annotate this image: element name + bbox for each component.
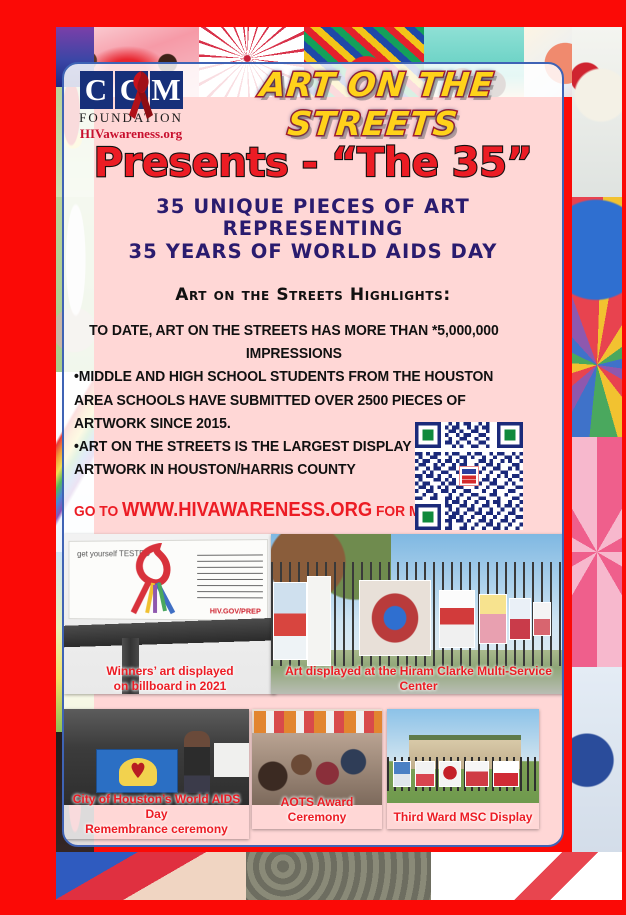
cta-url[interactable]: WWW.HIVAWARENESS.ORG [122,499,372,521]
ccm-foundation-logo: C C M FOUNDATION HIVawareness.org [72,71,190,137]
qr-center-logo [460,467,479,486]
third-ward-artwork-5 [493,761,519,787]
collage-tile-stone-artwork [246,852,431,900]
fence-artwork-5 [509,598,531,640]
cta-prefix: GO TO [74,503,122,520]
third-ward-artwork-4 [465,761,489,787]
photo-hiram-clarke-fence[interactable]: Art displayed at the Hiram Clarke Multi-… [271,534,564,694]
photo-remembrance-caption: City of Houston’s World AIDS Day Remembr… [64,792,249,837]
fence-artwork-2 [359,580,431,656]
subtitle-line-1: 35 UNIQUE PIECES OF ART REPRESENTING [64,196,562,241]
ccm-logo-letter-2: C [115,71,148,109]
third-ward-artwork-3 [439,761,461,787]
third-ward-artwork-1 [393,761,411,787]
poster-root: C C M FOUNDATION HIVawareness.org ART ON… [0,0,626,915]
ccm-logo-letter-3: M [150,71,183,109]
remembrance-love-sign [214,743,249,777]
photo-fence-caption: Art displayed at the Hiram Clarke Multi-… [271,664,564,694]
photo-billboard-caption: Winners’ art displayed on billboard in 2… [64,664,276,694]
billboard-tagline: HIV.GOV/PREP [210,608,261,615]
fence-artwork-1 [273,582,307,660]
collage-tile-raise-your-voice-artwork [56,852,246,900]
collage-tile-red-ribbon-hands-artwork [431,852,622,900]
collage-tile-flower-artwork [572,437,622,667]
presents-title: Presents - “The 35” [64,140,562,186]
photo-fence-caption-line1: Art displayed at the Hiram Clarke Multi-… [271,664,564,694]
photo-award-ceremony[interactable]: AOTS Award Ceremony [252,709,382,829]
photo-award-caption-line1: AOTS Award Ceremony [252,795,382,825]
billboard-bullet-text [197,554,263,599]
billboard-panel: get yourself TESTED HIV.GOV/PREP [69,539,269,621]
photo-third-ward[interactable]: Third Ward MSC Display [387,709,539,829]
third-ward-artwork-2 [415,761,435,787]
photo-third-ward-caption: Third Ward MSC Display [387,810,539,825]
collage-tile-blue-bear-artwork [572,197,622,437]
fence-sponsor-banner [307,576,331,666]
ccm-logo-letters: C C M [72,71,190,109]
photo-remembrance-caption-line2: Remembrance ceremony [64,822,249,837]
remembrance-person [184,731,210,793]
collage-tile-be-prepared-artwork [572,27,622,197]
collage-strip-right [572,27,622,900]
fence-artwork-4 [479,594,507,644]
highlights-heading: Art on the Streets Highlights: [64,285,562,305]
photo-remembrance-caption-line1: City of Houston’s World AIDS Day [64,792,249,822]
photo-third-ward-caption-line1: Third Ward MSC Display [387,810,539,825]
ccm-logo-letter-1: C [80,71,113,109]
billboard-ribbon-art-icon [120,543,196,618]
poster-subtitle: 35 UNIQUE PIECES OF ART REPRESENTING 35 … [64,196,562,263]
collage-strip-bottom [56,852,622,900]
qr-code-icon[interactable] [413,422,525,530]
photo-gallery: get yourself TESTED HIV.GOV/PREP [64,534,564,847]
photo-remembrance[interactable]: City of Houston’s World AIDS Day Remembr… [64,709,249,839]
remembrance-heart-banner [96,749,178,793]
yellow-heart-icon [119,758,157,786]
ribbon-in-heart-icon [119,758,157,786]
graffiti-title: ART ON THE STREETS [190,65,560,143]
photo-billboard-caption-line1: Winners’ art displayed [64,664,276,679]
poster-header: C C M FOUNDATION HIVawareness.org ART ON… [64,64,562,138]
ccm-logo-foundation-text: FOUNDATION [72,110,190,126]
highlight-line-1: TO DATE, ART ON THE STREETS HAS MORE THA… [74,319,514,365]
photo-award-caption: AOTS Award Ceremony [252,795,382,825]
poster-content-card: C C M FOUNDATION HIVawareness.org ART ON… [62,62,564,847]
fence-artwork-3 [439,590,475,648]
photo-billboard[interactable]: get yourself TESTED HIV.GOV/PREP [64,534,276,694]
subtitle-line-2: 35 YEARS OF WORLD AIDS DAY [64,241,562,263]
fence-artwork-6 [533,602,551,636]
ccm-logo-url-text: HIVawareness.org [72,126,190,142]
photo-billboard-caption-line2: on billboard in 2021 [64,679,276,694]
